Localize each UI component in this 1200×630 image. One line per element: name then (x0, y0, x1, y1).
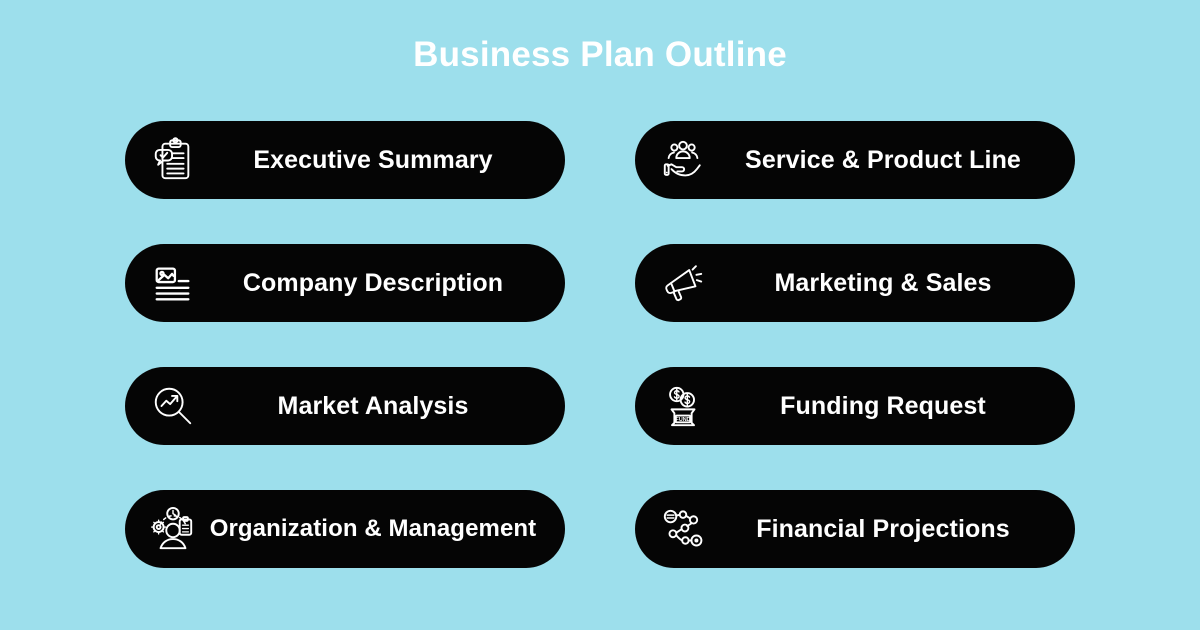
section-pill-market-analysis[interactable]: Market Analysis (125, 367, 565, 445)
section-label: Company Description (199, 268, 551, 298)
clipboard-check-icon (147, 134, 199, 186)
section-label: Executive Summary (199, 145, 551, 175)
team-management-icon (147, 503, 199, 555)
network-nodes-icon (657, 503, 709, 555)
section-pill-financial-projections[interactable]: Financial Projections (635, 490, 1075, 568)
section-label: Organization & Management (199, 514, 551, 544)
section-grid: Executive Summary Service & Product Line (125, 121, 1075, 568)
hand-people-icon (657, 134, 709, 186)
magnifier-trend-icon (147, 380, 199, 432)
section-pill-marketing-sales[interactable]: Marketing & Sales (635, 244, 1075, 322)
section-pill-executive-summary[interactable]: Executive Summary (125, 121, 565, 199)
section-label: Marketing & Sales (709, 268, 1061, 298)
section-pill-organization-management[interactable]: Organization & Management (125, 490, 565, 568)
page-title: Business Plan Outline (0, 32, 1200, 78)
section-label: Funding Request (709, 391, 1061, 421)
section-pill-service-product-line[interactable]: Service & Product Line (635, 121, 1075, 199)
svg-text:FUND: FUND (676, 417, 691, 423)
megaphone-icon (657, 257, 709, 309)
section-label: Service & Product Line (709, 145, 1061, 175)
fund-jar-icon: FUND (657, 380, 709, 432)
section-label: Financial Projections (709, 514, 1061, 544)
section-pill-funding-request[interactable]: FUND Funding Request (635, 367, 1075, 445)
image-document-icon (147, 257, 199, 309)
section-label: Market Analysis (199, 391, 551, 421)
section-pill-company-description[interactable]: Company Description (125, 244, 565, 322)
